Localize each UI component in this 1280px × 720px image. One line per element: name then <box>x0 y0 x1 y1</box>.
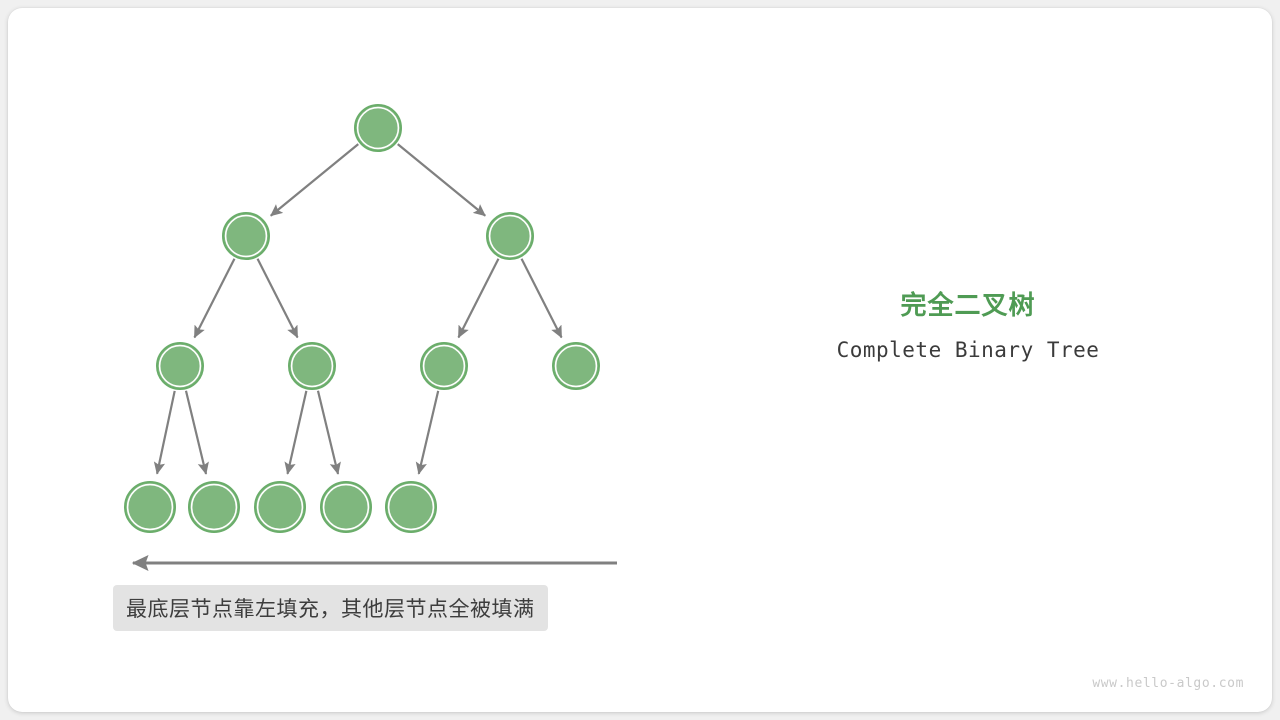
tree-node <box>553 343 599 389</box>
tree-node-core <box>161 347 199 385</box>
tree-node-core <box>227 217 265 255</box>
tree-node-core <box>425 347 463 385</box>
tree-node <box>386 482 436 532</box>
tree-node <box>255 482 305 532</box>
diagram-title-en: Complete Binary Tree <box>760 336 1176 364</box>
tree-node <box>355 105 401 151</box>
tree-edge <box>186 391 206 474</box>
caption-text: 最底层节点靠左填充，其他层节点全被填满 <box>126 593 535 623</box>
tree-edge <box>271 144 358 216</box>
tree-node-core <box>359 109 397 147</box>
tree-edge <box>419 391 438 474</box>
tree-node <box>321 482 371 532</box>
diagram-canvas: 完全二叉树 Complete Binary Tree 最底层节点靠左填充，其他层… <box>0 0 1280 720</box>
diagram-title-cn: 完全二叉树 <box>760 288 1176 322</box>
tree-node-core <box>491 217 529 255</box>
tree-node-core <box>193 486 235 528</box>
tree-node <box>189 482 239 532</box>
legend-block: 完全二叉树 Complete Binary Tree <box>760 288 1176 364</box>
tree-node <box>157 343 203 389</box>
tree-node-layer <box>125 105 599 532</box>
tree-edge <box>318 391 338 474</box>
tree-node-core <box>259 486 301 528</box>
tree-edge <box>458 259 498 338</box>
tree-node <box>487 213 533 259</box>
tree-node-core <box>390 486 432 528</box>
watermark: www.hello-algo.com <box>0 676 1244 691</box>
tree-node-core <box>557 347 595 385</box>
caption-box: 最底层节点靠左填充，其他层节点全被填满 <box>113 585 548 631</box>
tree-node <box>421 343 467 389</box>
tree-edge <box>157 391 175 474</box>
tree-edge <box>288 391 307 474</box>
tree-node <box>125 482 175 532</box>
tree-edge <box>194 259 234 338</box>
tree-node-core <box>325 486 367 528</box>
tree-edge <box>522 259 562 338</box>
tree-edge-layer <box>157 144 561 474</box>
tree-node <box>223 213 269 259</box>
tree-node <box>289 343 335 389</box>
tree-edge <box>258 259 298 338</box>
tree-node-core <box>129 486 171 528</box>
tree-node-core <box>293 347 331 385</box>
tree-edge <box>398 144 485 216</box>
